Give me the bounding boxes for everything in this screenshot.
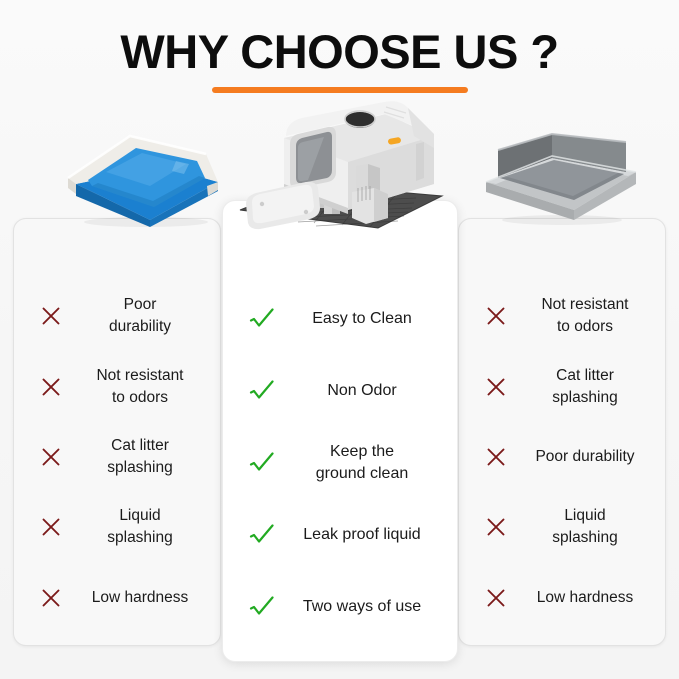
comparison-card-right: Not resistant to odors Cat litter splash… bbox=[458, 218, 666, 646]
feature-list-left: Poor durability Not resistant to odors C… bbox=[14, 281, 220, 633]
feature-label: Leak proof liquid bbox=[279, 524, 457, 546]
check-icon bbox=[245, 379, 279, 403]
feature-label: Easy to Clean bbox=[279, 308, 457, 330]
list-item: Keep the ground clean bbox=[223, 427, 457, 499]
feature-label: Low hardness bbox=[68, 587, 220, 609]
check-icon bbox=[245, 451, 279, 475]
list-item: Liquid splashing bbox=[459, 492, 665, 562]
feature-label: Two ways of use bbox=[279, 596, 457, 618]
feature-label: Cat litter splashing bbox=[513, 365, 665, 409]
feature-label: Not resistant to odors bbox=[68, 365, 220, 409]
list-item: Low hardness bbox=[459, 563, 665, 633]
list-item: Non Odor bbox=[223, 355, 457, 427]
feature-label: Low hardness bbox=[513, 587, 665, 609]
cross-icon bbox=[34, 587, 68, 609]
list-item: Poor durability bbox=[14, 281, 220, 351]
cross-icon bbox=[34, 446, 68, 468]
page-title: WHY CHOOSE US ? bbox=[0, 24, 679, 80]
feature-label: Cat litter splashing bbox=[68, 435, 220, 479]
list-item: Not resistant to odors bbox=[14, 351, 220, 421]
feature-label: Non Odor bbox=[279, 380, 457, 402]
cross-icon bbox=[479, 516, 513, 538]
cross-icon bbox=[34, 376, 68, 398]
comparison-card-center-highlighted: Easy to Clean Non Odor Keep the ground c… bbox=[222, 200, 458, 662]
list-item: Leak proof liquid bbox=[223, 499, 457, 571]
feature-list-right: Not resistant to odors Cat litter splash… bbox=[459, 281, 665, 633]
infographic-canvas: WHY CHOOSE US ? Poor durability Not resi bbox=[0, 0, 679, 679]
list-item: Cat litter splashing bbox=[14, 422, 220, 492]
list-item: Not resistant to odors bbox=[459, 281, 665, 351]
cross-icon bbox=[34, 516, 68, 538]
feature-label: Keep the ground clean bbox=[279, 441, 457, 485]
list-item: Easy to Clean bbox=[223, 283, 457, 355]
cross-icon bbox=[479, 305, 513, 327]
feature-label: Liquid splashing bbox=[68, 505, 220, 549]
check-icon bbox=[245, 523, 279, 547]
product-image-enclosed-hooded-litter-box bbox=[228, 92, 452, 240]
check-icon bbox=[245, 307, 279, 331]
check-icon bbox=[245, 595, 279, 619]
product-image-grey-open-litter-pan bbox=[478, 130, 644, 226]
feature-label: Poor durability bbox=[513, 446, 665, 468]
product-image-blue-open-litter-box bbox=[58, 128, 228, 228]
cross-icon bbox=[479, 587, 513, 609]
comparison-card-left: Poor durability Not resistant to odors C… bbox=[13, 218, 221, 646]
feature-list-center: Easy to Clean Non Odor Keep the ground c… bbox=[223, 283, 457, 643]
list-item: Cat litter splashing bbox=[459, 351, 665, 421]
cross-icon bbox=[479, 446, 513, 468]
feature-label: Liquid splashing bbox=[513, 505, 665, 549]
list-item: Low hardness bbox=[14, 563, 220, 633]
cross-icon bbox=[479, 376, 513, 398]
list-item: Liquid splashing bbox=[14, 492, 220, 562]
feature-label: Poor durability bbox=[68, 294, 220, 338]
cross-icon bbox=[34, 305, 68, 327]
list-item: Two ways of use bbox=[223, 571, 457, 643]
feature-label: Not resistant to odors bbox=[513, 294, 665, 338]
list-item: Poor durability bbox=[459, 422, 665, 492]
